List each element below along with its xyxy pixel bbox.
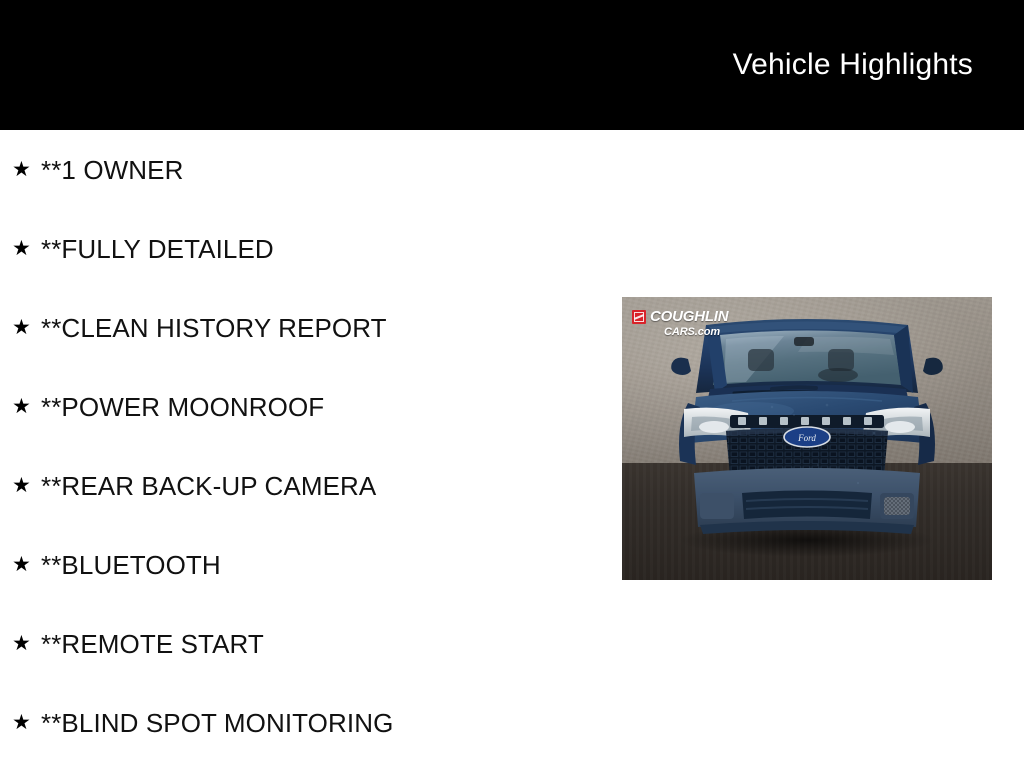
star-icon: ★: [12, 712, 34, 733]
list-item: ★ **1 OWNER: [0, 130, 620, 209]
vehicle-photo[interactable]: Ford COUGHLIN CARS.co: [622, 297, 992, 580]
vehicle-highlights-list: ★ **1 OWNER ★ **FULLY DETAILED ★ **CLEAN…: [0, 130, 620, 762]
dealer-name: COUGHLIN: [650, 309, 728, 324]
highlight-label: **POWER MOONROOF: [41, 392, 324, 422]
header-bar: Vehicle Highlights: [0, 0, 1024, 130]
highlight-label: **1 OWNER: [41, 155, 183, 185]
list-item: ★ **REAR BACK-UP CAMERA: [0, 446, 620, 525]
list-item: ★ **BLIND SPOT MONITORING: [0, 683, 620, 762]
list-item: ★ **CLEAN HISTORY REPORT: [0, 288, 620, 367]
dealer-watermark: COUGHLIN CARS.com: [632, 309, 728, 338]
highlight-label: **BLIND SPOT MONITORING: [41, 708, 393, 738]
list-item: ★ **REMOTE START: [0, 604, 620, 683]
vehicle-front-view-illustration: Ford: [622, 297, 992, 580]
highlight-label: **FULLY DETAILED: [41, 234, 274, 264]
star-icon: ★: [12, 475, 34, 496]
star-icon: ★: [12, 238, 34, 259]
list-item: ★ **FULLY DETAILED: [0, 209, 620, 288]
star-icon: ★: [12, 396, 34, 417]
highlight-label: **BLUETOOTH: [41, 550, 221, 580]
highlight-label: **CLEAN HISTORY REPORT: [41, 313, 387, 343]
highlight-label: **REAR BACK-UP CAMERA: [41, 471, 376, 501]
coughlin-logo-icon: [632, 310, 646, 324]
star-icon: ★: [12, 317, 34, 338]
star-icon: ★: [12, 633, 34, 654]
dealer-domain: CARS.com: [664, 327, 728, 338]
svg-text:Ford: Ford: [797, 433, 816, 443]
page-title: Vehicle Highlights: [733, 48, 973, 82]
highlight-label: **REMOTE START: [41, 629, 264, 659]
star-icon: ★: [12, 554, 34, 575]
list-item: ★ **BLUETOOTH: [0, 525, 620, 604]
list-item: ★ **POWER MOONROOF: [0, 367, 620, 446]
star-icon: ★: [12, 159, 34, 180]
